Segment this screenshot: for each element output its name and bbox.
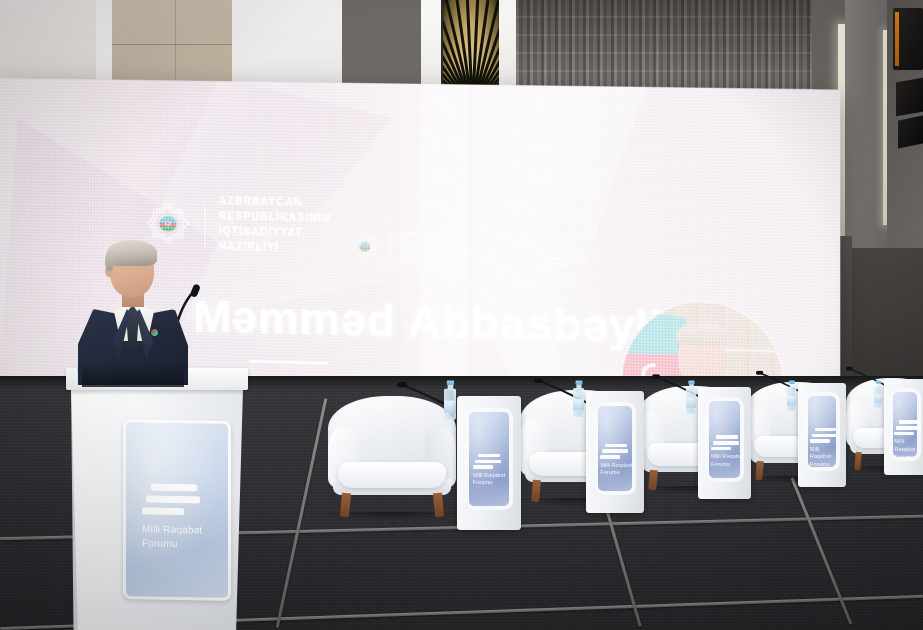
podium-logo-line-1: Milli Rəqabət bbox=[142, 523, 202, 538]
armchair-leg-right bbox=[433, 492, 444, 516]
side-table-logo-label: Milli RəqabətForumu bbox=[711, 454, 743, 469]
bottle-cap bbox=[446, 380, 453, 385]
flag-lapel-pin-icon bbox=[151, 329, 158, 336]
podium-logo-line-2: Forumu bbox=[142, 537, 202, 552]
bottle-label bbox=[573, 399, 584, 410]
side-table-logo-bars bbox=[711, 435, 743, 450]
side-table-logo-line-2: Forumu bbox=[810, 462, 840, 470]
armchair-seat-cushion bbox=[338, 462, 446, 488]
side-table-logo-label: Milli RəqabətForumu bbox=[894, 439, 920, 460]
side-table-branded-screen: Milli RəqabətForumu bbox=[804, 392, 840, 471]
side-table-forum-logo: Milli RəqabətForumu bbox=[473, 454, 505, 488]
branded-side-table: Milli RəqabətForumu bbox=[698, 387, 751, 499]
side-table-logo-label: Milli RəqabətForumu bbox=[473, 473, 505, 488]
side-table-logo-line-2: Forumu bbox=[894, 455, 920, 461]
armchair-leg-left bbox=[340, 492, 351, 516]
bottle-cap bbox=[688, 380, 694, 384]
marble-seam-horizontal bbox=[112, 44, 232, 45]
bottle-label bbox=[787, 396, 796, 405]
side-table-logo-line-1: Milli Rəqabət bbox=[894, 439, 920, 454]
side-table-forum-logo: Milli RəqabətForumu bbox=[711, 435, 743, 469]
bottle-cap bbox=[575, 380, 582, 384]
ceiling-loudspeaker bbox=[893, 8, 923, 70]
water-bottle bbox=[573, 381, 584, 417]
side-table-logo-line-1: Milli Rəqabət bbox=[810, 447, 840, 462]
speaker-hair bbox=[107, 240, 157, 266]
bottle-label bbox=[444, 401, 456, 413]
side-table-logo-line-1: Milli Rəqabət bbox=[473, 473, 505, 481]
side-table-logo-line-2: Forumu bbox=[711, 462, 743, 470]
branded-side-table: Milli RəqabətForumu bbox=[884, 379, 923, 475]
side-table-logo-line-2: Forumu bbox=[473, 480, 505, 488]
speaker-at-podium bbox=[72, 243, 194, 383]
branded-side-table: Milli RəqabətForumu bbox=[586, 391, 644, 513]
side-table-branded-screen: Milli RəqabətForumu bbox=[594, 402, 637, 495]
side-table-forum-logo: Milli RəqabətForumu bbox=[600, 444, 632, 478]
conference-stage-photo: AZƏRBAYCAN RESPUBLİKASININ İQTİSADİYYAT … bbox=[0, 0, 923, 630]
speaker-lower-shadow bbox=[82, 363, 184, 387]
podium-branded-panel: Milli Rəqabət Forumu bbox=[123, 419, 231, 601]
side-table-forum-logo: Milli RəqabətForumu bbox=[894, 420, 920, 460]
side-table-branded-screen: Milli RəqabətForumu bbox=[705, 397, 744, 482]
podium-logo-label: Milli Rəqabət Forumu bbox=[142, 523, 202, 551]
table-gooseneck-microphone bbox=[652, 374, 704, 400]
side-table-logo-line-2: Forumu bbox=[600, 470, 632, 478]
side-table-logo-label: Milli RəqabətForumu bbox=[810, 447, 840, 470]
podium-forum-logo: Milli Rəqabət Forumu bbox=[142, 483, 202, 551]
ceiling-loudspeaker-2 bbox=[896, 78, 923, 117]
bottle-label bbox=[874, 395, 882, 403]
side-table-forum-logo: Milli RəqabətForumu bbox=[810, 428, 840, 470]
side-table-logo-label: Milli RəqabətForumu bbox=[600, 463, 632, 478]
side-table-logo-bars bbox=[473, 454, 505, 469]
water-bottle bbox=[686, 381, 696, 414]
bottle-label bbox=[686, 398, 696, 408]
marble-column-right bbox=[845, 0, 887, 250]
side-table-branded-screen: Milli RəqabətForumu bbox=[889, 388, 920, 461]
ceiling-loudspeaker-3 bbox=[898, 115, 923, 148]
branded-side-table: Milli RəqabətForumu bbox=[798, 383, 846, 487]
side-table-logo-bars bbox=[600, 444, 632, 459]
speaking-podium: Milli Rəqabət Forumu bbox=[66, 368, 248, 630]
water-bottle bbox=[444, 381, 456, 420]
podium-logo-bars bbox=[142, 483, 202, 515]
branded-side-table: Milli RəqabətForumu bbox=[457, 396, 521, 530]
speaker-hair-side bbox=[105, 251, 114, 271]
bottle-cap bbox=[789, 380, 795, 384]
side-table-logo-bars bbox=[810, 428, 840, 443]
side-table-branded-screen: Milli RəqabətForumu bbox=[465, 408, 512, 510]
white-armchair bbox=[328, 396, 456, 514]
bottle-cap bbox=[876, 380, 881, 383]
side-table-logo-line-1: Milli Rəqabət bbox=[711, 454, 743, 462]
loudspeaker-orange-accent bbox=[895, 12, 899, 66]
side-table-logo-bars bbox=[894, 420, 920, 435]
side-table-logo-line-1: Milli Rəqabət bbox=[600, 463, 632, 471]
water-bottle bbox=[787, 381, 796, 411]
armchair-leg-left bbox=[648, 469, 657, 490]
water-bottle bbox=[874, 381, 882, 408]
